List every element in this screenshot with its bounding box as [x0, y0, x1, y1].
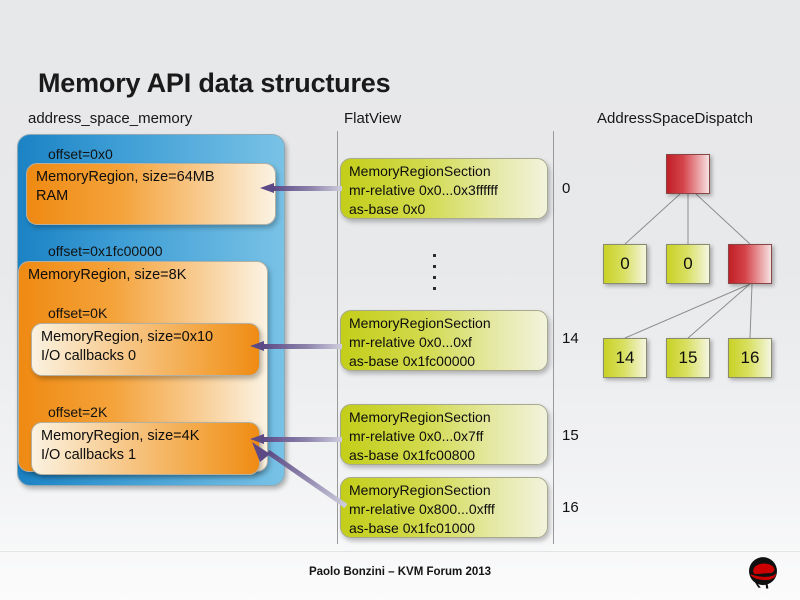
- memory-region-ram-line1: MemoryRegion, size=64MB: [36, 168, 266, 187]
- dispatch-node-root[interactable]: [666, 154, 710, 194]
- memory-region-io0-line1: MemoryRegion, size=0x10: [41, 328, 250, 347]
- flat-view-caption: FlatView: [344, 110, 401, 127]
- memory-region-section-14: MemoryRegionSection mr-relative 0x0...0x…: [340, 310, 548, 371]
- dispatch-node-16[interactable]: 16: [728, 338, 772, 378]
- memory-region-io1-line1: MemoryRegion, size=4K: [41, 427, 250, 446]
- arrow-section16-to-io1: [248, 440, 348, 510]
- dispatch-node-leaf-a[interactable]: 0: [603, 244, 647, 284]
- mrs-15-relative: mr-relative 0x0...0x7ff: [349, 427, 539, 446]
- mrs-0-title: MemoryRegionSection: [349, 162, 539, 181]
- flat-view-index-15: 15: [562, 427, 579, 444]
- offset-label-ram: offset=0x0: [48, 146, 113, 162]
- flat-view-index-14: 14: [562, 330, 579, 347]
- offset-label-io1: offset=2K: [48, 404, 107, 420]
- footer-credit: Paolo Bonzini – KVM Forum 2013: [0, 566, 800, 578]
- memory-region-io-callbacks-0: MemoryRegion, size=0x10 I/O callbacks 0: [31, 323, 260, 376]
- memory-region-section-0: MemoryRegionSection mr-relative 0x0...0x…: [340, 158, 548, 219]
- address-space-caption: address_space_memory: [28, 110, 192, 127]
- mrs-16-title: MemoryRegionSection: [349, 481, 539, 500]
- mrs-0-relative: mr-relative 0x0...0x3ffffff: [349, 181, 539, 200]
- memory-region-ram: MemoryRegion, size=64MB RAM: [26, 163, 276, 225]
- vertical-ellipsis-icon: [433, 254, 436, 298]
- dispatch-caption: AddressSpaceDispatch: [597, 110, 753, 127]
- memory-region-io1-line2: I/O callbacks 1: [41, 446, 250, 465]
- mrs-0-asbase: as-base 0x0: [349, 200, 539, 219]
- footer-divider: [0, 551, 800, 552]
- address-space-dispatch-tree: 0 0 14 15 16: [580, 130, 800, 410]
- slide-canvas: Memory API data structures address_space…: [0, 0, 800, 600]
- mrs-15-asbase: as-base 0x1fc00800: [349, 446, 539, 465]
- flat-view-index-16: 16: [562, 499, 579, 516]
- mrs-14-relative: mr-relative 0x0...0xf: [349, 333, 539, 352]
- memory-region-io0-line2: I/O callbacks 0: [41, 347, 250, 366]
- dispatch-node-14[interactable]: 14: [603, 338, 647, 378]
- mrs-14-asbase: as-base 0x1fc00000: [349, 352, 539, 371]
- arrow-section0-to-ram: [260, 183, 342, 194]
- dispatch-node-15[interactable]: 15: [666, 338, 710, 378]
- mrs-16-asbase: as-base 0x1fc01000: [349, 519, 539, 538]
- flat-view-index-0: 0: [562, 180, 570, 197]
- dispatch-node-sub[interactable]: [728, 244, 772, 284]
- arrow-section14-to-io0: [250, 341, 342, 352]
- memory-region-section-16: MemoryRegionSection mr-relative 0x800...…: [340, 477, 548, 538]
- page-title: Memory API data structures: [38, 68, 390, 99]
- offset-label-8k: offset=0x1fc00000: [48, 243, 163, 259]
- memory-region-8k-line1: MemoryRegion, size=8K: [28, 266, 258, 285]
- mrs-15-title: MemoryRegionSection: [349, 408, 539, 427]
- red-hat-shadowman-logo: [744, 556, 782, 590]
- flat-view-right-rail: [553, 131, 554, 544]
- dispatch-node-leaf-b[interactable]: 0: [666, 244, 710, 284]
- mrs-16-relative: mr-relative 0x800...0xfff: [349, 500, 539, 519]
- memory-region-io-callbacks-1: MemoryRegion, size=4K I/O callbacks 1: [31, 422, 260, 475]
- memory-region-section-15: MemoryRegionSection mr-relative 0x0...0x…: [340, 404, 548, 465]
- mrs-14-title: MemoryRegionSection: [349, 314, 539, 333]
- offset-label-io0: offset=0K: [48, 305, 107, 321]
- memory-region-ram-line2: RAM: [36, 187, 266, 206]
